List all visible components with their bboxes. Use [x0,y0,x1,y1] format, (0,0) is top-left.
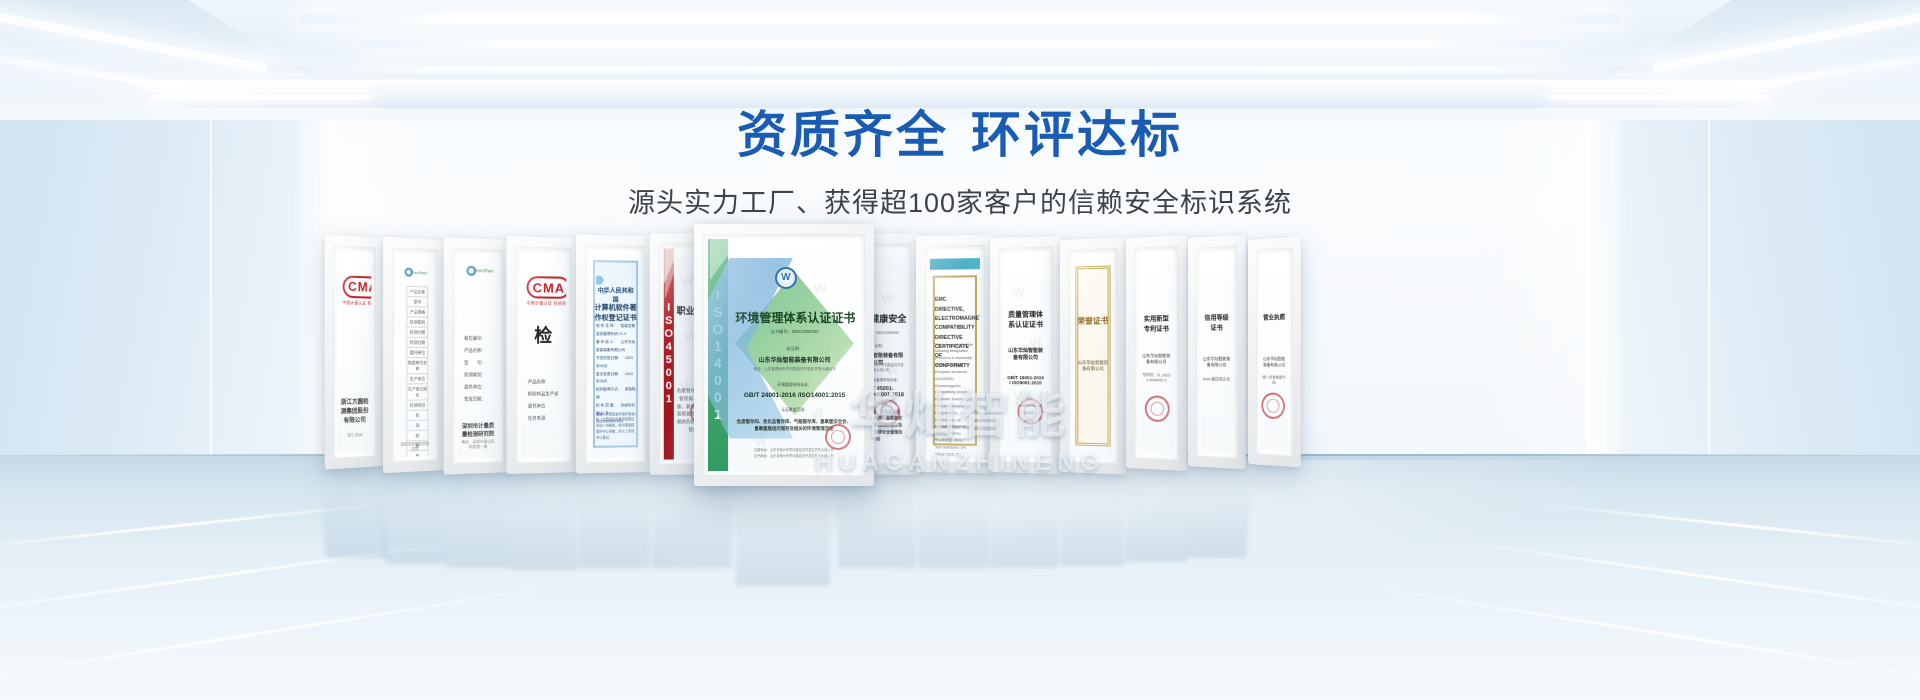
institute-name: ShenZhen [473,268,493,274]
company-label: 兹证明： [735,346,854,352]
company-name: 山东华灿智能装备有限公司 [1077,360,1108,372]
teal-header-bar [930,258,980,269]
cma-logo-icon: CMA [343,275,372,299]
floor-light-streak-6 [1354,583,1920,689]
certificate-frame-credit[interactable]: 信用等级证书 山东华灿智能装备有限公司 AAA 级信用企业 [1188,235,1246,470]
certificate-big-character: 检 [534,322,552,348]
certificate-issuer-address: 地址：深圳市南山区科技南一路 [461,439,496,450]
report-table: 产品名称型号 产品规格检测类别 检测日期检测日期 委托单位制造单位名称 生产单位… [406,286,428,457]
page-title: 资质齐全环评达标 [0,95,1920,167]
certificate-frame-ce-emc[interactable]: EMC DIRECTIVE, ELECTROMAGNETIC COMPATIBI… [916,235,994,474]
company-name: 山东华灿智能装备有限公司 [1203,356,1231,368]
certificate-number: 证书编号：00EC0000000 [735,329,854,335]
certificate-issuer-note: 浙江 杭州 [341,433,369,439]
certificate-frame-cma-inspection[interactable]: CMA 中国计量认证 检验检测机构 检 产品名称 检验样品生产者 委托单位 任务… [506,236,580,474]
official-seal [1143,393,1173,425]
certificate-frame-business-license[interactable]: 营业执照 山东华灿智能装备有限公司 统一社会信用代码 [1248,237,1301,468]
certificate-frame-software-copyright[interactable]: 中华人民共和国 计算机软件著作权登记证书 软 件 名 称： 智能告警监控管理系统… [576,235,654,474]
certificate-issuer: 深圳市质量检验研究院 [400,442,430,453]
certificate-address: 证书地址：山东省德州市齐河县经济开发区齐鲁大道以东 [735,454,852,460]
certificate-title: 信用等级证书 [1203,312,1231,333]
field-copyright-owner: 著 作 权 人： 山东华灿智能装备有限公司 [596,339,636,355]
company-name: 山东华灿智能装备有限公司 [1262,356,1286,368]
standard-value: GB/T 24001-2016 /ISO14001:2015 [735,392,854,399]
scope-label: 认证覆盖范围： [735,408,854,413]
field-publish-date: 首次发表日期： 2023年06月 [596,371,636,387]
frame-reflection [1125,468,1194,562]
title-part-1: 资质齐全 [737,107,949,163]
banner-headings: 资质齐全环评达标 源头实力工厂、获得超100家客户的信赖安全标识系统 [0,0,1920,220]
frame-reflection [1186,466,1254,558]
certificate-issuer: 浙江方圆检测集团股份有限公司 [341,397,369,425]
certificate-title: 实用新型专利证书 [1141,312,1171,333]
gold-ornate-border [1076,266,1110,447]
frame-reflection [1059,470,1128,566]
accreditation-logo-icon: W [775,267,797,289]
certificate-title: 计算机软件著作权登记证书 [595,302,637,322]
frame-reflection [441,470,510,568]
banner-stage: 资质齐全环评达标 源头实力工厂、获得超100家客户的信赖安全标识系统 CMA 中… [0,0,1920,700]
floor-light-streak-3 [0,583,566,689]
certificate-reference: No. CE-EMC-2024-0001 [935,437,970,441]
certificate-note: 根据《计算机软件保护条例》和《计算机软件著作权登记办法》的规定，经中国版权保护中… [596,412,636,441]
certificate-frame-patent[interactable]: 实用新型专利证书 山东华灿智能装备有限公司 专利号：ZL 2023 2 0000… [1126,235,1187,471]
report-fields: 产品名称 检验样品生产者 委托单位 任务来源 [528,380,563,429]
certificate-frame-honor[interactable]: 荣誉证书 山东华灿智能装备有限公司 [1060,237,1126,474]
frame-reflection [736,478,830,586]
certificate-title: 质量管理体系认证证书 [1006,310,1045,330]
signature-label: Authorized Signature [935,424,967,428]
credit-code-label: 统一社会信用代码 [1262,375,1286,386]
standard-value: GB/T 19001-2016 / ISO9001:2015 [1006,375,1045,385]
official-seal [1260,390,1287,421]
cma-logo-caption: 中国计量认证 检验检测机构 [342,300,371,307]
company-name: 山东华灿智能装备有限公司 [1141,353,1171,365]
cma-logo-icon: CMA [527,276,566,299]
standard-label: 环境管理体系标准： [735,383,854,388]
title-part-2: 环评达标 [971,107,1183,163]
cma-logo-caption: 中国计量认证 检验检测机构 [526,301,566,308]
field-acquire-method: 权利取得方式： 原始取得 [596,386,636,402]
frame-reflection [379,468,448,564]
frame-reflection [578,468,650,568]
company-name: 山东华灿智能装备有限公司 [1006,347,1045,361]
certificate-frame-shenzhen-kv[interactable]: ShenZhen 报告编号： 产品名称： 型 号： 检测类别： 委托单位： 签发… [444,237,512,474]
certificate-frame-shenzhen-table[interactable]: ShenZhen 产品名称型号 产品规格检测类别 检测日期检测日期 委托单位制造… [383,237,446,473]
frame-reflection [318,466,388,558]
certificate-title: 环境管理体系认证证书 [735,309,854,326]
institute-name: ShenZhen [410,270,428,276]
certificate-frame-cma-zhejiang[interactable]: CMA 中国计量认证 检验检测机构 浙江方圆检测集团股份有限公司 浙江 杭州 [325,234,384,469]
company-name: 山东华灿智能装备有限公司 [735,355,854,364]
page-subtitle: 源头实力工厂、获得超100家客户的信赖安全标识系统 [0,181,1920,220]
field-rights-scope: 权 利 范 围： 全部权利 [596,402,636,410]
certificate-frame-iso14001-featured[interactable]: ISO14001 WW WW WW W W 环境管理体系认证证书 证书编号：00… [694,224,874,486]
certificate-title: 荣誉证书 [1077,315,1108,326]
frame-reflection [506,470,577,570]
certificate-issuer: 深圳市计量质量检测研究院 [461,421,496,438]
certificate-frame-iso9001[interactable]: WW W 质量管理体系认证证书 山东华灿智能装备有限公司 GB/T 19001-… [990,236,1062,474]
report-fields: 报告编号： 产品名称： 型 号： 检测类别： 委托单位： 签发日期： [464,335,495,408]
credit-grade: AAA 级信用企业 [1203,376,1231,382]
certificate-title: 营业执照 [1262,312,1286,322]
company-address: 地址：山东省德州市齐河县经济开发区齐鲁大道以东 [735,367,854,372]
patent-number: 专利号：ZL 2023 2 0000000.0 [1141,373,1171,382]
frame-reflection [918,468,990,568]
field-dev-date: 开发完成日期： 2023年05月 [596,355,636,371]
frame-reflection [990,470,1061,568]
field-software-name: 软 件 名 称： 智能告警监控管理系统 V1.0 [596,323,636,339]
